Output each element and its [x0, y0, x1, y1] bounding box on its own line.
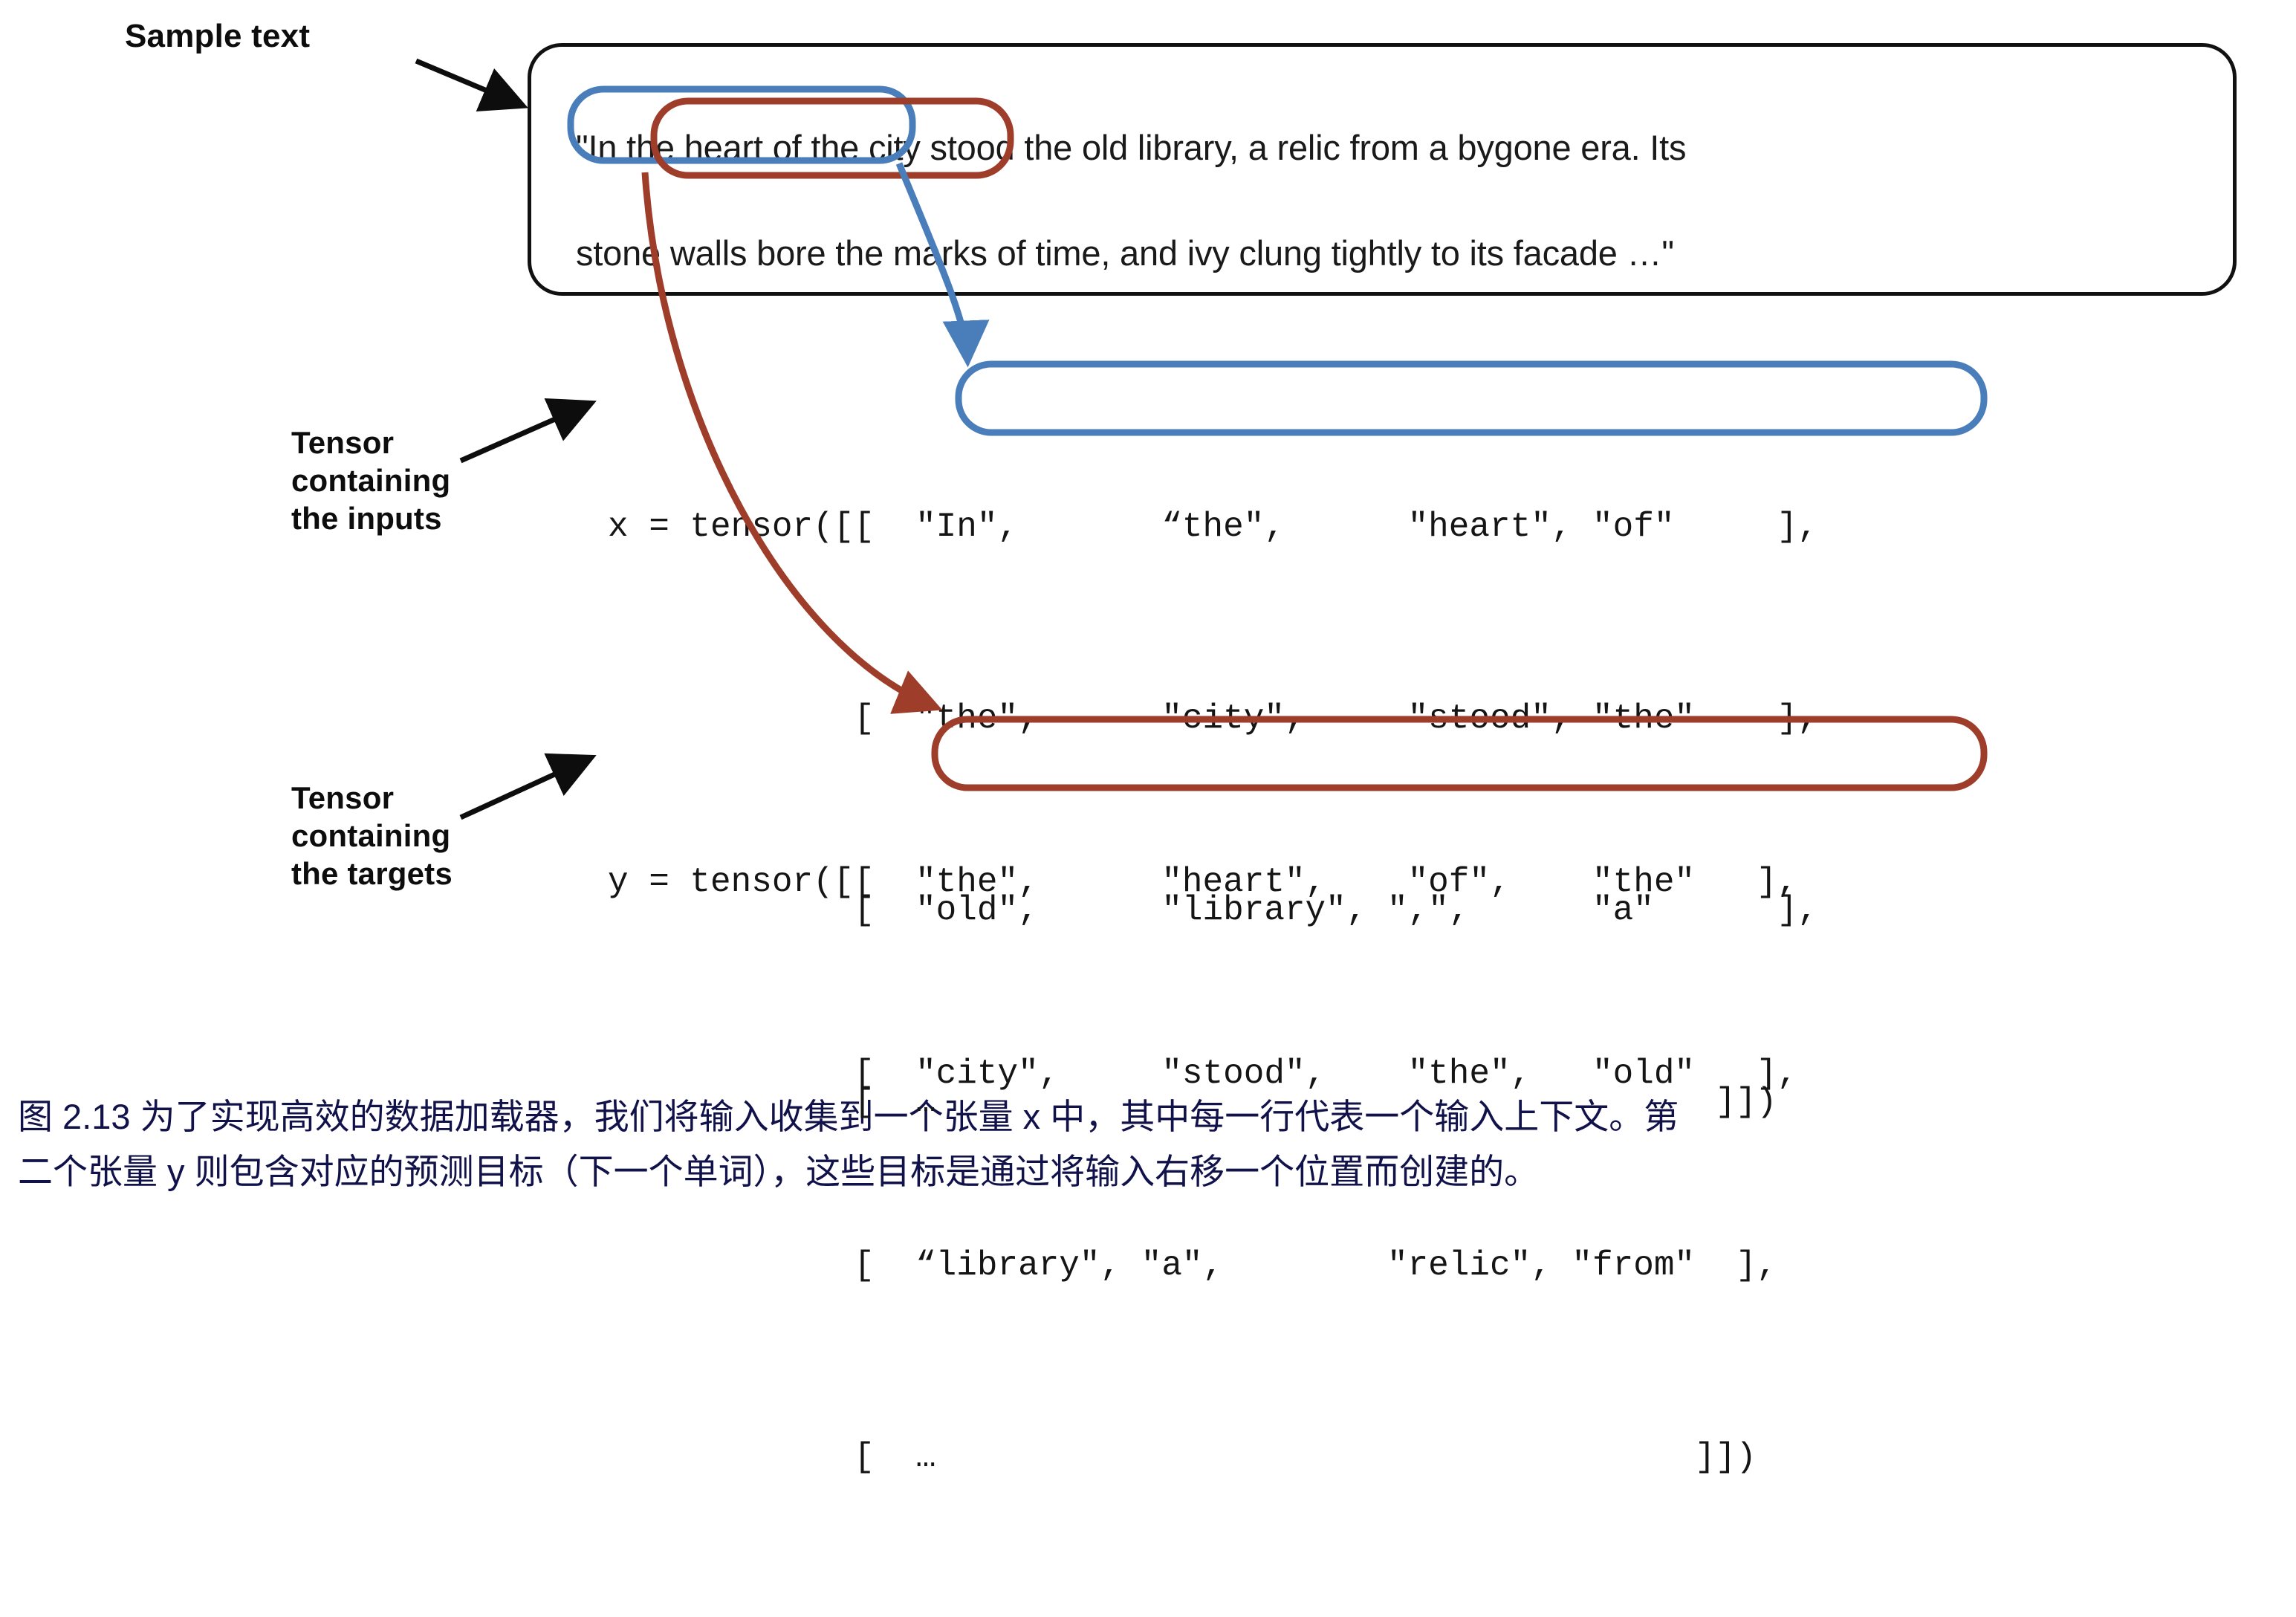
- label-tensor-targets: Tensor containing the targets: [291, 779, 603, 893]
- tensor-y-block: y = tensor([[ "the", "heart", "of", "the…: [608, 722, 1797, 1617]
- sample-text-line-2: stone walls bore the marks of time, and …: [576, 233, 1674, 273]
- tensor-y-row-2: [ “library", "a", "relic", "from" ],: [608, 1234, 1797, 1297]
- label-inputs-line-2: containing: [291, 461, 603, 499]
- sample-text-card: "In the heart of the city stood the old …: [528, 43, 2237, 296]
- label-targets-line-3: the targets: [291, 855, 603, 892]
- label-targets-line-2: containing: [291, 817, 603, 855]
- arrow-sample-text: [416, 61, 519, 104]
- figure-root: "In the heart of the city stood the old …: [0, 0, 2296, 1240]
- sample-text-line-1: "In the heart of the city stood the old …: [576, 127, 1686, 168]
- tensor-x-row-0: x = tensor([[ "In", “the", "heart", "of"…: [608, 495, 1818, 559]
- label-tensor-inputs: Tensor containing the inputs: [291, 424, 603, 538]
- label-sample-text: Sample text: [125, 16, 310, 56]
- tensor-y-row-3: [ … ]]): [608, 1425, 1797, 1489]
- tensor-y-row-1: [ "city", "stood", "the", "old" ],: [608, 1042, 1797, 1106]
- tensor-y-row-0: y = tensor([[ "the", "heart", "of", "the…: [608, 850, 1797, 914]
- label-inputs-line-3: the inputs: [291, 499, 603, 537]
- label-inputs-line-1: Tensor: [291, 424, 603, 461]
- label-targets-line-1: Tensor: [291, 779, 603, 817]
